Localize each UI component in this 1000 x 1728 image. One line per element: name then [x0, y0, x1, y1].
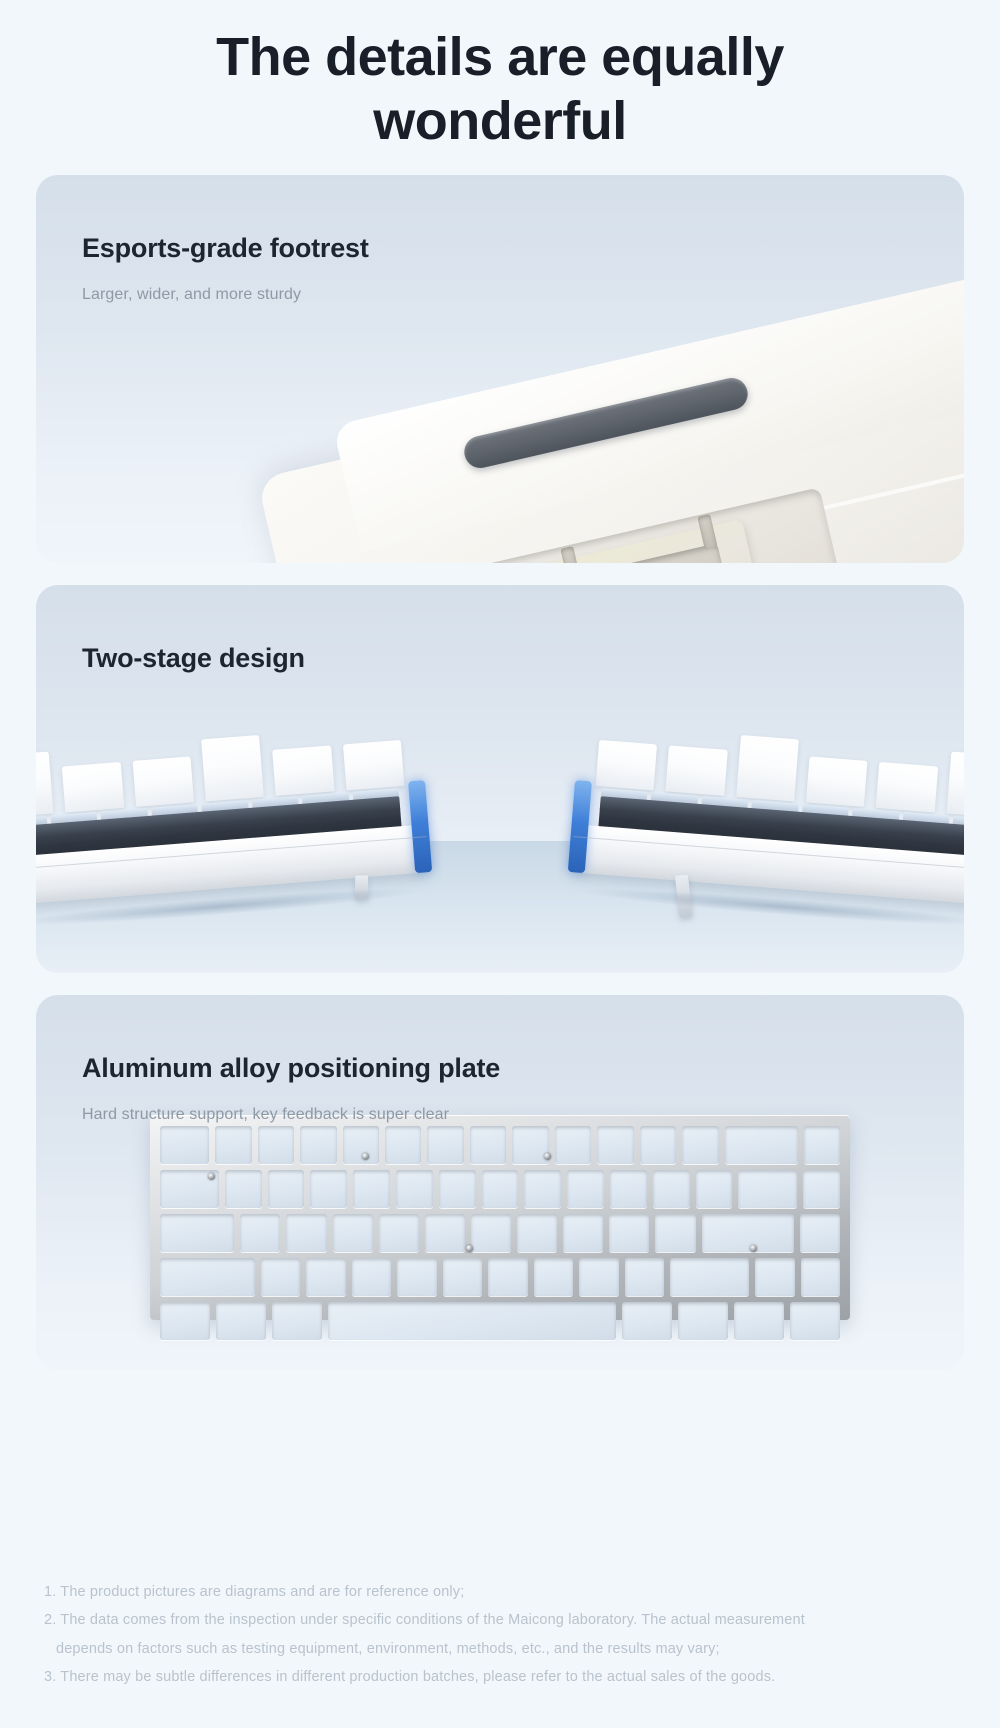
footnote-item: depends on factors such as testing equip…: [44, 1635, 964, 1663]
card-title: Two-stage design: [82, 643, 964, 674]
card-title: Aluminum alloy positioning plate: [82, 1053, 964, 1084]
detail-card-footrest: Esports-grade footrest Larger, wider, an…: [36, 175, 964, 563]
aluminum-positioning-plate-photo: [36, 1115, 964, 1320]
footnote-item: 3. There may be subtle differences in di…: [44, 1663, 964, 1691]
card-text-block: Aluminum alloy positioning plate Hard st…: [36, 995, 964, 1124]
page-title: The details are equally wonderful: [0, 0, 1000, 153]
plate-cutout-row: [160, 1126, 840, 1164]
detail-card-positioning-plate: Aluminum alloy positioning plate Hard st…: [36, 995, 964, 1370]
detail-cards-list: Esports-grade footrest Larger, wider, an…: [0, 175, 1000, 1370]
card-text-block: Esports-grade footrest Larger, wider, an…: [36, 175, 964, 304]
footnote-item: 1. The product pictures are diagrams and…: [44, 1578, 964, 1606]
blue-side-accent-right: [568, 781, 592, 874]
plate-cutout-row: [160, 1170, 840, 1208]
card-text-block: Two-stage design: [36, 585, 964, 674]
blue-side-accent-left: [408, 781, 432, 874]
footnotes-block: 1. The product pictures are diagrams and…: [44, 1578, 964, 1691]
aluminum-plate-shape: [150, 1115, 850, 1320]
footnote-item: 2. The data comes from the inspection un…: [44, 1606, 964, 1634]
card-title: Esports-grade footrest: [82, 233, 964, 264]
card-subtitle: Larger, wider, and more sturdy: [82, 286, 964, 304]
plate-cutout-row: [160, 1258, 840, 1296]
plate-cutout-row: [160, 1214, 840, 1252]
detail-card-two-stage: Two-stage design: [36, 585, 964, 973]
plate-cutout-row: [160, 1302, 840, 1340]
card-subtitle: Hard structure support, key feedback is …: [82, 1106, 964, 1124]
